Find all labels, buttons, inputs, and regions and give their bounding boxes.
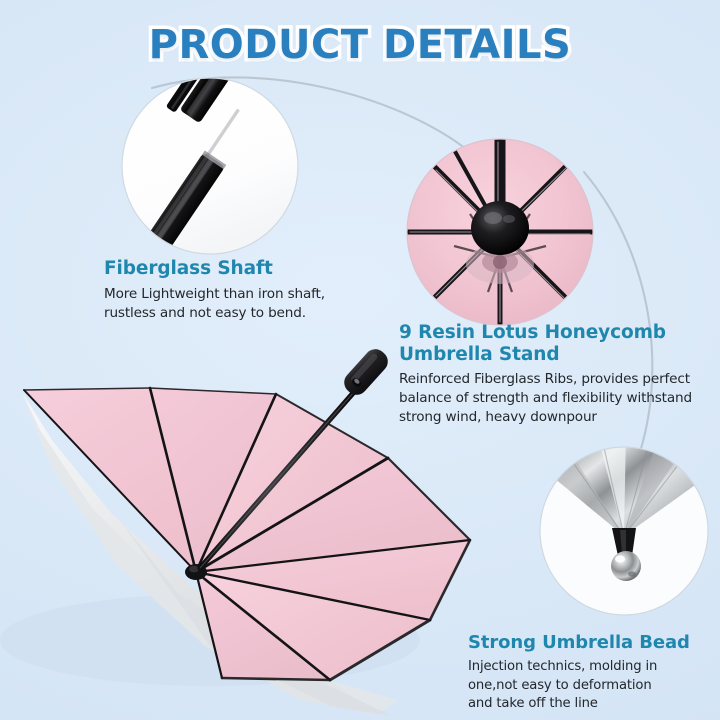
body-line: rustless and not easy to bend.: [104, 304, 364, 323]
feature-heading-lotus-honeycomb-stand: 9 Resin Lotus Honeycomb Umbrella Stand: [399, 322, 695, 365]
feature-body-lotus-honeycomb-stand: Reinforced Fiberglass Ribs, provides per…: [399, 370, 695, 427]
feature-block-strong-umbrella-bead: Strong Umbrella Bead Injection technics,…: [468, 632, 718, 714]
body-line: Injection technics, molding in: [468, 658, 718, 676]
body-line: one,not easy to deformation: [468, 677, 718, 695]
umbrella-handle: [340, 345, 393, 400]
heading-line: 9 Resin Lotus Honeycomb: [399, 322, 666, 343]
body-line: balance of strength and flexibility with…: [399, 389, 695, 408]
infographic-canvas: PRODUCT DETAILS Fiberglass Shaft More Li…: [0, 0, 720, 720]
feature-heading-fiberglass-shaft: Fiberglass Shaft: [104, 258, 364, 280]
feature-body-strong-umbrella-bead: Injection technics, molding in one,not e…: [468, 658, 718, 713]
body-line: and take off the line: [468, 695, 718, 713]
feature-heading-strong-umbrella-bead: Strong Umbrella Bead: [468, 632, 718, 653]
umbrella-stand-closeup-photo: [407, 139, 593, 325]
shaft-closeup-photo: [120, 45, 300, 263]
feature-body-fiberglass-shaft: More Lightweight than iron shaft, rustle…: [104, 285, 364, 323]
heading-line: Umbrella Stand: [399, 344, 559, 365]
feature-block-lotus-honeycomb-stand: 9 Resin Lotus Honeycomb Umbrella Stand R…: [399, 322, 695, 427]
feature-block-fiberglass-shaft: Fiberglass Shaft More Lightweight than i…: [104, 258, 364, 323]
body-line: More Lightweight than iron shaft,: [104, 285, 364, 304]
chrome-bead: [611, 551, 641, 581]
body-line: Reinforced Fiberglass Ribs, provides per…: [399, 370, 695, 389]
umbrella-bead-closeup-photo: [508, 430, 716, 615]
body-line: strong wind, heavy downpour: [399, 408, 695, 427]
